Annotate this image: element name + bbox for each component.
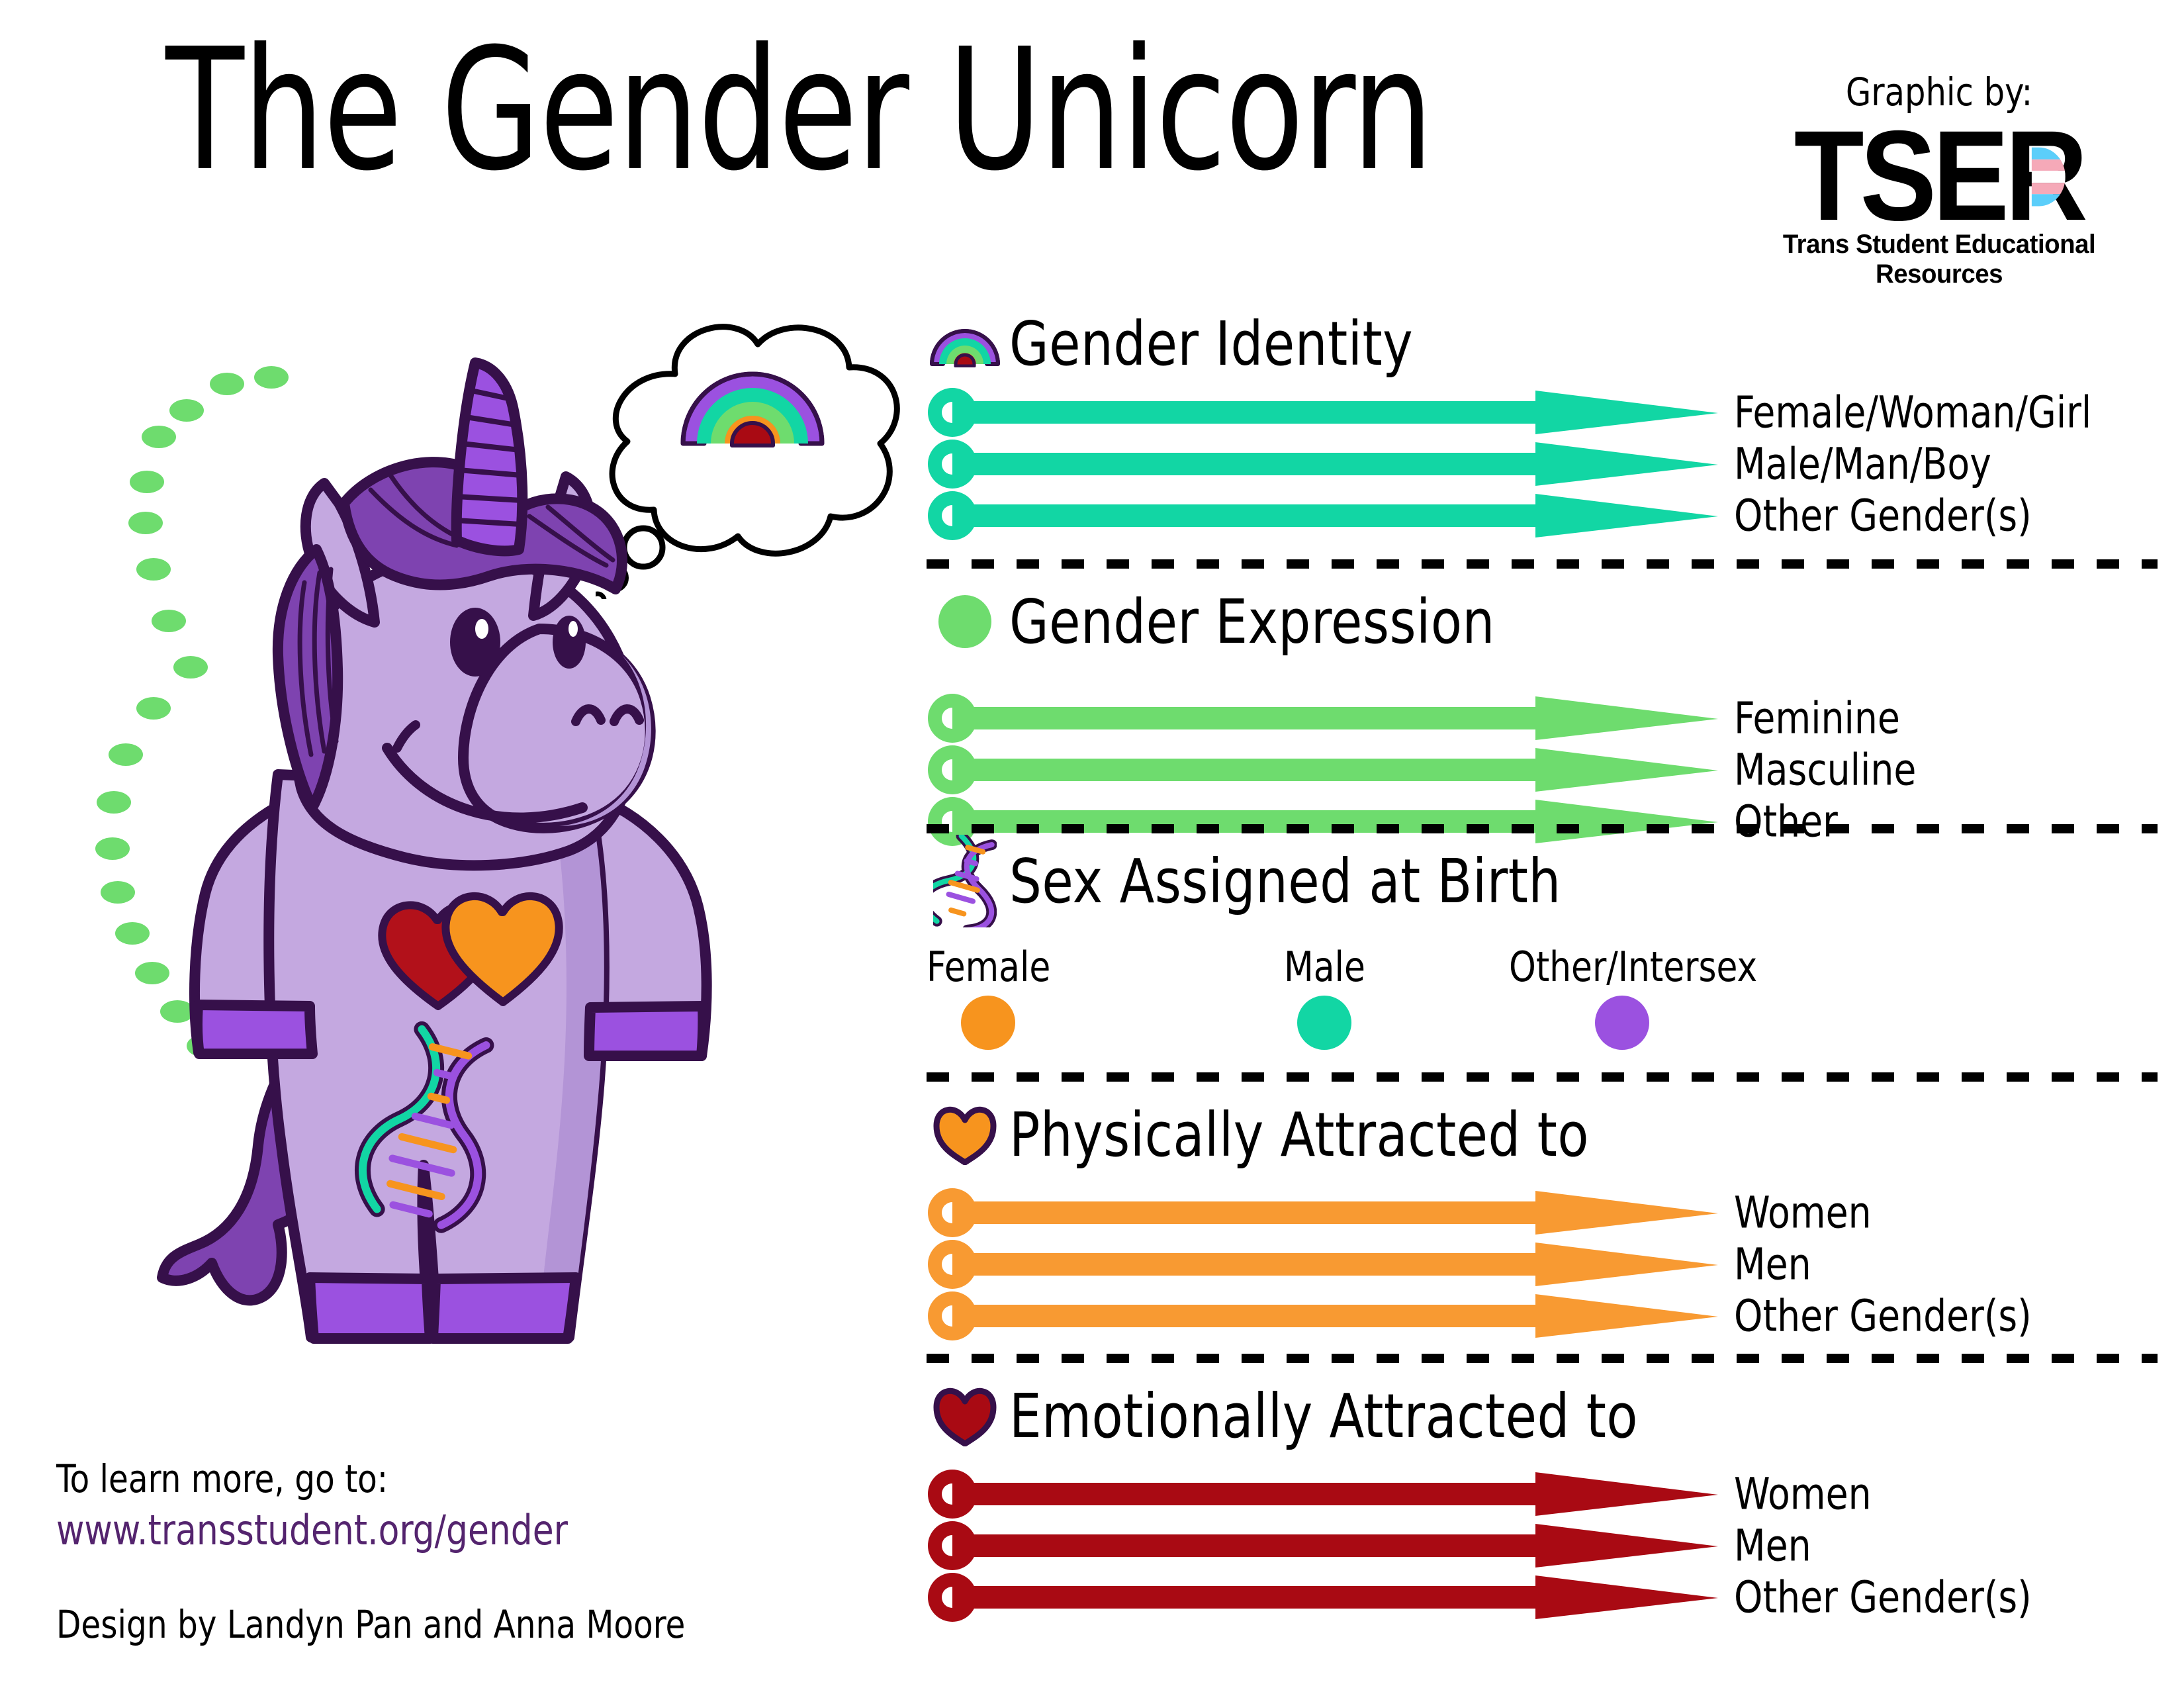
learn-more-label: To learn more, go to: — [56, 1456, 388, 1501]
section-divider — [927, 1072, 2158, 1082]
arrow-label: Feminine — [1734, 693, 1900, 744]
orange-heart-icon — [927, 1104, 1003, 1165]
arrow-label: Other Gender(s) — [1734, 1291, 2032, 1342]
arrow-row: Other Gender(s) — [927, 1290, 2158, 1342]
arrow-row: Feminine — [927, 692, 2158, 744]
section-header: Gender Identity — [927, 305, 2158, 383]
section-divider — [927, 824, 2158, 833]
website-link[interactable]: www.transstudent.org/gender — [56, 1506, 568, 1554]
section-physically-attracted-to: Physically Attracted to Women Men — [927, 1096, 2158, 1342]
arrow-rows: Women Men Other Gender(s) — [927, 1468, 2158, 1623]
section-title: Sex Assigned at Birth — [1009, 846, 1561, 917]
section-title: Gender Identity — [1009, 308, 1413, 379]
arrow-label: Women — [1734, 1469, 1872, 1520]
sab-dot-male — [1297, 996, 1351, 1050]
arrow-label: Masculine — [1734, 745, 1916, 796]
sab-label-male: Male — [1284, 943, 1365, 991]
section-sex-assigned-at-birth: Sex Assigned at Birth Female Male Other/… — [927, 842, 2158, 1068]
section-header: Sex Assigned at Birth — [927, 842, 2158, 920]
page-title: The Gender Unicorn — [165, 26, 1505, 195]
sab-dot-female — [961, 996, 1015, 1050]
red-heart-icon — [927, 1385, 1003, 1446]
section-header: Emotionally Attracted to — [927, 1377, 2158, 1455]
arrow-label: Other Gender(s) — [1734, 1572, 2032, 1623]
section-divider — [927, 1354, 2158, 1363]
sab-label-intersex: Other/Intersex — [1509, 943, 1757, 991]
section-gender-expression: Gender Expression Feminine Masculine — [927, 583, 2158, 847]
arrow-row: Other Gender(s) — [927, 490, 2158, 541]
arrow-label: Other — [1734, 796, 1838, 847]
arrow-row: Women — [927, 1187, 2158, 1239]
arrow-row: Men — [927, 1239, 2158, 1290]
sab-labels: Female Male Other/Intersex — [927, 943, 2158, 996]
arrow-label: Other Gender(s) — [1734, 491, 2032, 541]
section-gender-identity: Gender Identity Female/Woman/Girl Male/M… — [927, 305, 2158, 541]
sab-label-female: Female — [927, 943, 1050, 991]
arrow-rows: Female/Woman/Girl Male/Man/Boy Other Gen… — [927, 387, 2158, 541]
arrow-label: Women — [1734, 1188, 1872, 1239]
arrow-row: Male/Man/Boy — [927, 438, 2158, 490]
sab-dot-intersex — [1595, 996, 1649, 1050]
dna-icon — [927, 835, 1003, 927]
tser-logo: Graphic by: TSER Trans Student Education… — [1721, 70, 2158, 289]
green-circle-icon — [927, 594, 1003, 649]
arrow-label: Male/Man/Boy — [1734, 439, 1991, 490]
section-header: Physically Attracted to — [927, 1096, 2158, 1174]
design-credit: Design by Landyn Pan and Anna Moore — [56, 1602, 685, 1647]
arrow-row: Women — [927, 1468, 2158, 1520]
section-header: Gender Expression — [927, 583, 2158, 661]
arrow-rows: Women Men Other Gender(s) — [927, 1187, 2158, 1342]
tser-acronym: TSER — [1794, 117, 2084, 235]
section-emotionally-attracted-to: Emotionally Attracted to Women Men — [927, 1377, 2158, 1623]
tser-full-name: Trans Student Educational Resources — [1729, 230, 2149, 289]
arrow-row: Other — [927, 796, 2158, 847]
arrow-row: Masculine — [927, 744, 2158, 796]
arrow-label: Men — [1734, 1239, 1811, 1290]
section-title: Gender Expression — [1009, 586, 1495, 657]
arrow-row: Female/Woman/Girl — [927, 387, 2158, 438]
section-title: Physically Attracted to — [1009, 1100, 1589, 1170]
section-title: Emotionally Attracted to — [1009, 1381, 1638, 1452]
arrow-row: Men — [927, 1520, 2158, 1571]
rainbow-icon — [927, 320, 1003, 367]
arrow-label: Men — [1734, 1521, 1811, 1571]
arrow-label: Female/Woman/Girl — [1734, 387, 2091, 438]
unicorn-illustration — [0, 285, 927, 1450]
arrow-row: Other Gender(s) — [927, 1571, 2158, 1623]
section-divider — [927, 559, 2158, 569]
sab-dots — [927, 996, 2158, 1068]
